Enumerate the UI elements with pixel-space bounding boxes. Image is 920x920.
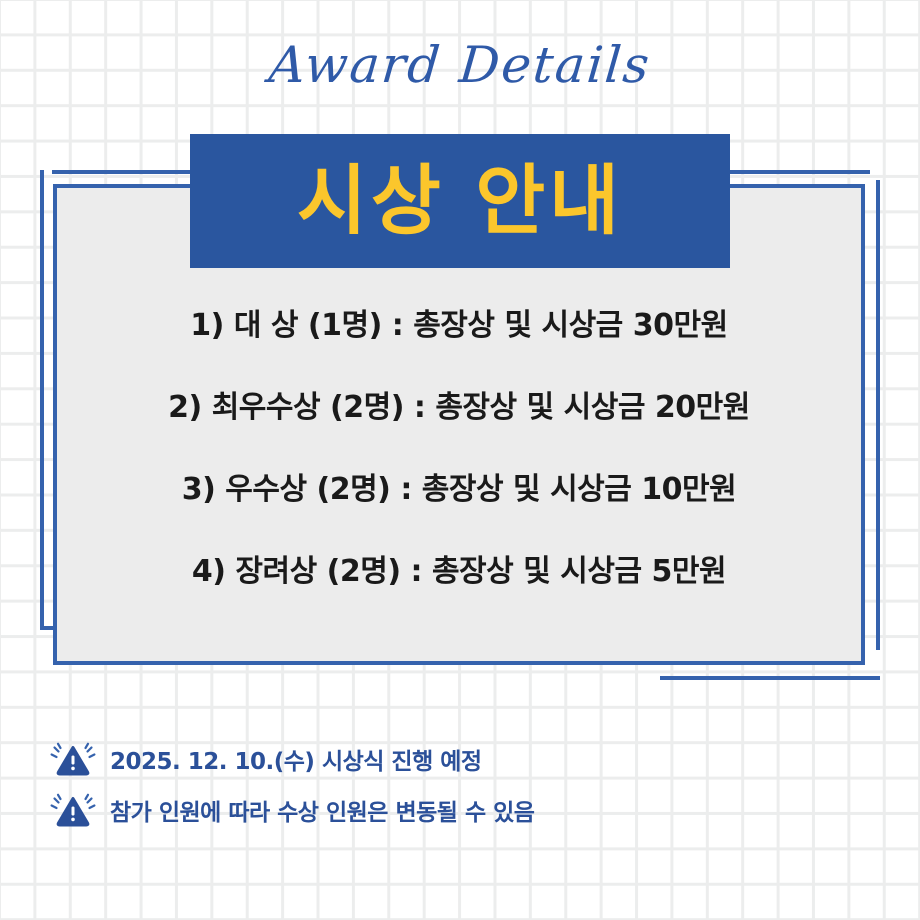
page-title-handwritten: Award Details — [0, 36, 920, 94]
banner-title-text: 시상 안내 — [297, 163, 623, 239]
frame-line-right — [876, 180, 880, 650]
award-list-item: 4) 장려상 (2명) : 총장상 및 시상금 5만원 — [192, 546, 726, 590]
frame-line-left — [40, 170, 44, 630]
banner-header: 시상 안내 — [190, 134, 730, 268]
footer-note-text: 참가 인원에 따라 수상 인원은 변동될 수 있음 — [110, 793, 534, 827]
warning-icon — [50, 742, 96, 776]
award-list-item: 1) 대 상 (1명) : 총장상 및 시상금 30만원 — [190, 300, 727, 344]
footer-note-text: 2025. 12. 10.(수) 시상식 진행 예정 — [110, 742, 482, 776]
frame-line-top-right — [725, 170, 870, 174]
frame-line-bottom-right — [660, 676, 880, 680]
footer-note-row: 참가 인원에 따라 수상 인원은 변동될 수 있음 — [50, 793, 534, 827]
award-list-item: 2) 최우수상 (2명) : 총장상 및 시상금 20만원 — [168, 382, 750, 426]
footer-note-row: 2025. 12. 10.(수) 시상식 진행 예정 — [50, 742, 534, 776]
award-list-item: 3) 우수상 (2명) : 총장상 및 시상금 10만원 — [182, 464, 737, 508]
footer-notes: 2025. 12. 10.(수) 시상식 진행 예정 참가 인원에 따라 수상 … — [50, 742, 534, 827]
warning-icon — [50, 793, 96, 827]
award-list: 1) 대 상 (1명) : 총장상 및 시상금 30만원 2) 최우수상 (2명… — [53, 300, 865, 590]
